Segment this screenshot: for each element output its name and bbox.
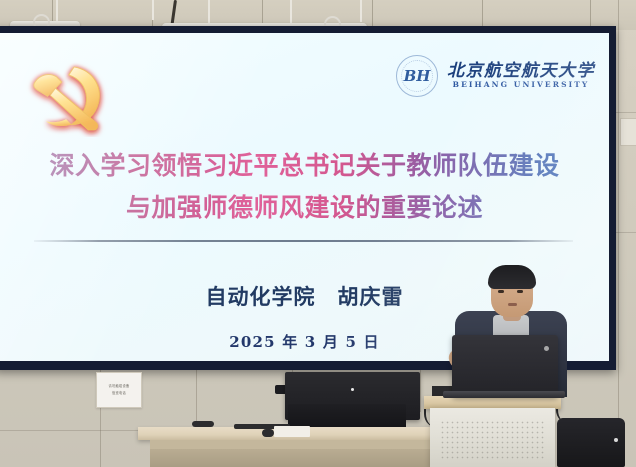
wall-sign-line-2: 值班电话	[112, 392, 126, 395]
lectern-desk-apron	[150, 440, 468, 449]
presenter-hair	[488, 265, 536, 289]
university-name-en: BEIHANG UNIVERSITY	[453, 81, 590, 89]
desk-paper	[274, 426, 310, 437]
monitor-power-led-icon	[351, 388, 354, 391]
fixture-cable	[290, 0, 292, 24]
cpc-hammer-sickle-emblem-icon	[22, 59, 112, 137]
speaking-podium	[430, 408, 555, 467]
slide-title: 深入学习领悟习近平总书记关于教师队伍建设 与加强师德师风建设的重要论述	[0, 145, 609, 229]
wall-base-line	[0, 430, 150, 431]
wall-sign-line-1: 请勿触碰设备	[109, 385, 130, 388]
wall-mounted-box	[620, 118, 636, 146]
slide-title-line-2: 与加强师德师风建设的重要论述	[0, 187, 609, 229]
fixture-cable	[360, 0, 362, 22]
wall-notice-sign: 请勿触碰设备 值班电话	[96, 372, 142, 408]
lectern-desk-front	[150, 449, 468, 467]
university-name-cn: 北京航空航天大学	[447, 63, 595, 80]
presenter-mouth	[508, 303, 517, 306]
presentation-laptop-base	[443, 391, 565, 398]
fixture-cable	[56, 0, 58, 22]
podium-grill	[440, 420, 545, 461]
laptop-logo-icon	[544, 346, 549, 351]
presenter-eye	[498, 290, 504, 293]
desk-mouse	[262, 429, 274, 437]
slide-divider-rule	[34, 240, 573, 242]
slide-title-line-1: 深入学习领悟习近平总书记关于教师队伍建设	[0, 145, 609, 187]
desk-cable-coil	[192, 421, 214, 427]
presenter-eye	[517, 290, 523, 293]
university-name-block: 北京航空航天大学 BEIHANG UNIVERSITY	[447, 63, 595, 89]
university-seal-mark: BH	[404, 69, 431, 84]
lecture-hall-screenshot: BH 北京航空航天大学 BEIHANG UNIVERSITY 深入学习领悟习近平…	[0, 0, 636, 467]
wall-panel-seam	[618, 0, 619, 467]
wall-panel-seam	[420, 368, 421, 412]
presentation-laptop-lid	[452, 335, 558, 397]
chair-adjust-knob-icon	[614, 438, 618, 442]
fixture-cable	[152, 0, 154, 20]
office-chair	[557, 418, 625, 467]
university-logo: BH 北京航空航天大学 BEIHANG UNIVERSITY	[396, 51, 595, 101]
university-seal-icon: BH	[396, 55, 438, 97]
fixture-cable	[208, 0, 210, 24]
